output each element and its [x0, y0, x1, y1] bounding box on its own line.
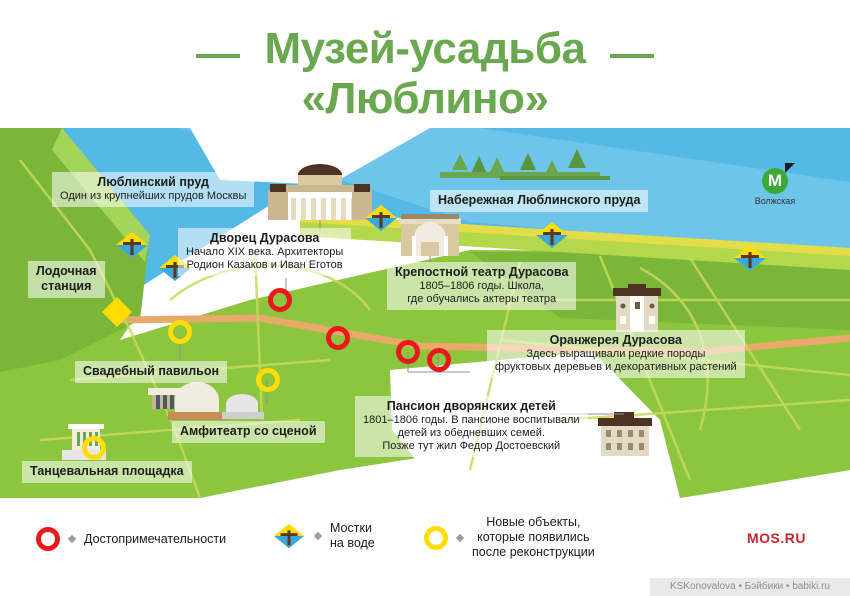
sight-marker-palace[interactable] [268, 288, 292, 312]
legend-item-new-objects[interactable]: Новые объекты, которые появились после р… [424, 515, 595, 560]
yellow-ring-icon [424, 526, 448, 550]
page-title-line2: «Люблино» [0, 74, 850, 124]
sight-marker-orangery[interactable] [427, 348, 451, 372]
new-object-marker-wedding-pavilion[interactable] [168, 320, 192, 344]
legend-separator-icon [314, 532, 322, 540]
label-title: Лодочная [36, 264, 97, 279]
label-boat-station: Лодочная станция [28, 261, 105, 298]
legend-label: Мостки на воде [330, 521, 375, 551]
map-legend: Достопримечательности Мостки на воде Нов… [0, 505, 850, 575]
label-title: Оранжерея Дурасова [495, 333, 737, 348]
label-title: Амфитеатр со сценой [180, 424, 317, 439]
label-dance-floor: Танцевальная площадка [22, 461, 192, 483]
label-subtitle-2: Родион Казаков и Иван Еготов [186, 259, 343, 272]
label-serf-theatre: Крепостной театр Дурасова 1805–1806 годы… [387, 262, 576, 310]
label-title: Танцевальная площадка [30, 464, 184, 479]
label-title-2: станция [36, 279, 97, 294]
bridge-icon [272, 521, 306, 551]
infographic-map-page: Музей-усадьба «Люблино» [0, 0, 850, 596]
legend-separator-icon [68, 535, 76, 543]
label-subtitle-1: 1801–1806 годы. В пансионе воспитывали [363, 414, 580, 427]
legend-label: Достопримечательности [84, 532, 226, 547]
label-subtitle-2: фруктовых деревьев и декоративных растен… [495, 361, 737, 374]
label-title: Дворец Дурасова [186, 231, 343, 246]
metro-icon: М [762, 168, 788, 194]
metro-station-name: Волжская [740, 196, 810, 206]
noble-children-boarding-building [598, 412, 652, 456]
legend-label-line3: после реконструкции [472, 545, 595, 560]
legend-item-water-bridges[interactable]: Мостки на воде [272, 521, 375, 551]
label-subtitle-1: Один из крупнейших прудов Москвы [60, 190, 246, 203]
label-subtitle-1: Здесь выращивали редкие породы [495, 348, 737, 361]
legend-separator-icon [456, 533, 464, 541]
mosru-logo[interactable]: MOS.RU [747, 530, 806, 546]
label-title: Люблинский пруд [60, 175, 246, 190]
page-header: Музей-усадьба «Люблино» [0, 0, 850, 128]
label-wedding-pavilion: Свадебный павильон [75, 361, 227, 383]
label-durasov-palace: Дворец Дурасова Начало XIX века. Архитек… [178, 228, 351, 276]
legend-item-sights[interactable]: Достопримечательности [36, 527, 226, 551]
page-title-line1: Музей-усадьба [0, 24, 850, 74]
label-title: Набережная Люблинского пруда [438, 193, 640, 208]
watermark: KSKonovalova • Бэйбики • babiki.ru [650, 578, 850, 596]
label-subtitle-3: Позже тут жил Федор Достоевский [363, 440, 580, 453]
label-title: Свадебный павильон [83, 364, 219, 379]
legend-label-line2: которые появились [472, 530, 595, 545]
label-embankment: Набережная Люблинского пруда [430, 190, 648, 212]
label-subtitle-2: где обучались актеры театра [395, 293, 568, 306]
label-subtitle-1: 1805–1806 годы. Школа, [395, 280, 568, 293]
serf-theatre-building [399, 214, 461, 256]
new-object-marker-amphitheatre[interactable] [256, 368, 280, 392]
page-title: Музей-усадьба «Люблино» [0, 24, 850, 124]
legend-label-line1: Мостки [330, 521, 375, 536]
new-object-marker-dance-floor[interactable] [82, 436, 106, 460]
metro-glyph: М [768, 171, 782, 190]
legend-label-line1: Новые объекты, [472, 515, 595, 530]
legend-label-line2: на воде [330, 536, 375, 551]
sight-marker-boarding[interactable] [396, 340, 420, 364]
label-title: Крепостной театр Дурасова [395, 265, 568, 280]
metro-pointer-icon [785, 163, 795, 173]
metro-station-volzhskaya[interactable]: М Волжская [740, 168, 810, 206]
label-lublinsky-pond: Люблинский пруд Один из крупнейших прудо… [52, 172, 254, 207]
sight-marker-theatre[interactable] [326, 326, 350, 350]
legend-label: Новые объекты, которые появились после р… [472, 515, 595, 560]
label-amphitheatre: Амфитеатр со сценой [172, 421, 325, 443]
label-subtitle-1: Начало XIX века. Архитекторы [186, 246, 343, 259]
label-title: Пансион дворянских детей [363, 399, 580, 414]
red-ring-icon [36, 527, 60, 551]
durasov-orangery-building [613, 284, 661, 332]
label-durasov-orangery: Оранжерея Дурасова Здесь выращивали редк… [487, 330, 745, 378]
label-noble-children-boarding: Пансион дворянских детей 1801–1806 годы.… [355, 396, 588, 457]
label-subtitle-2: детей из обедневших семей. [363, 427, 580, 440]
